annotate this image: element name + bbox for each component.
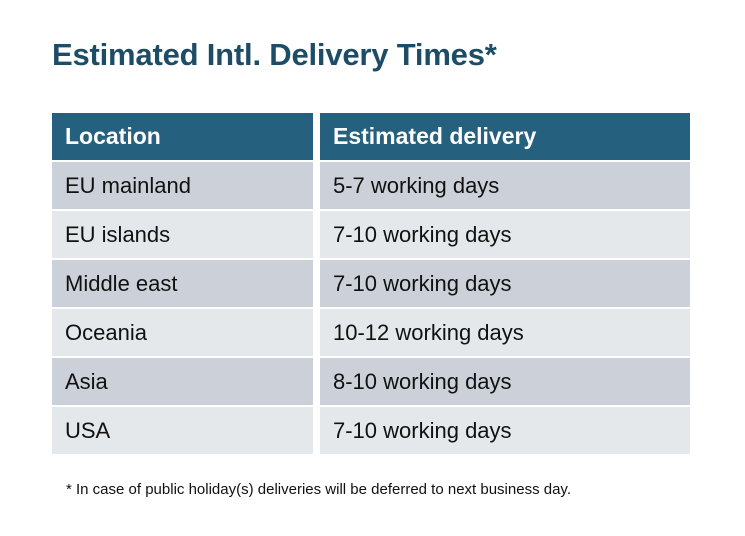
estimated-delivery-times-table: Location Estimated delivery EU mainland …: [52, 113, 690, 456]
table-row: Oceania 10-12 working days: [52, 309, 690, 356]
table-header-row: Location Estimated delivery: [52, 113, 690, 160]
page-title: Estimated Intl. Delivery Times*: [52, 36, 497, 75]
column-header-location: Location: [52, 113, 313, 160]
table-row: USA 7-10 working days: [52, 407, 690, 454]
cell-estimated-delivery: 5-7 working days: [320, 162, 690, 209]
cell-location: Oceania: [52, 309, 313, 356]
cell-estimated-delivery: 7-10 working days: [320, 407, 690, 454]
cell-location: Middle east: [52, 260, 313, 307]
cell-estimated-delivery: 10-12 working days: [320, 309, 690, 356]
cell-location: USA: [52, 407, 313, 454]
cell-estimated-delivery: 8-10 working days: [320, 358, 690, 405]
cell-location: EU islands: [52, 211, 313, 258]
column-header-estimated-delivery: Estimated delivery: [320, 113, 690, 160]
footnote: * In case of public holiday(s) deliverie…: [66, 481, 571, 498]
table-row: Middle east 7-10 working days: [52, 260, 690, 307]
cell-location: EU mainland: [52, 162, 313, 209]
cell-location: Asia: [52, 358, 313, 405]
table-row: EU islands 7-10 working days: [52, 211, 690, 258]
cell-estimated-delivery: 7-10 working days: [320, 260, 690, 307]
table-row: Asia 8-10 working days: [52, 358, 690, 405]
cell-estimated-delivery: 7-10 working days: [320, 211, 690, 258]
table-row: EU mainland 5-7 working days: [52, 162, 690, 209]
delivery-times-panel: Estimated Intl. Delivery Times* Location…: [0, 0, 745, 536]
